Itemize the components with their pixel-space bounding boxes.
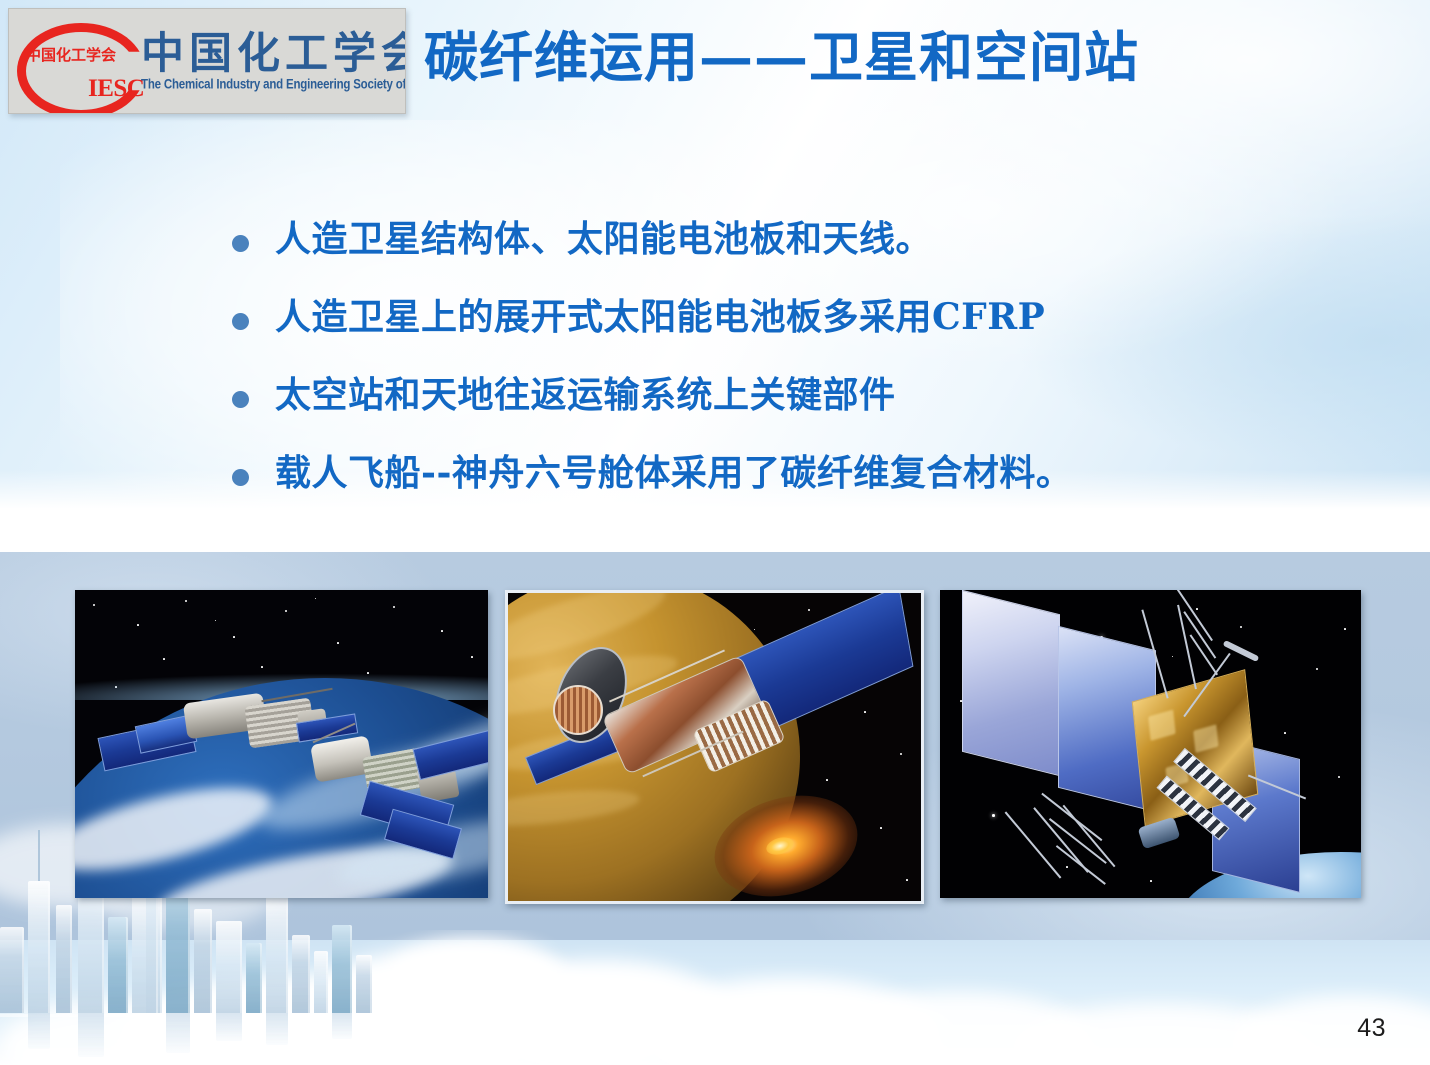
logo-wordmark: 中国化工学会 The Chemical Industry and Enginee… [137, 32, 406, 90]
list-item: 人造卫星上的展开式太阳能电池板多采用CFRP [232, 294, 1312, 340]
list-item: 载人飞船--神舟六号舱体采用了碳纤维复合材料。 [232, 450, 1312, 496]
photo-space-station-docking [75, 590, 488, 898]
bullet-text: 载人飞船--神舟六号舱体采用了碳纤维复合材料。 [275, 450, 1072, 496]
logo-abbrev-text: IESC [88, 76, 144, 101]
list-item: 人造卫星结构体、太阳能电池板和天线。 [232, 216, 1312, 262]
logo-name-en: The Chemical Industry and Engineering So… [141, 78, 406, 92]
logo-name-cn: 中国化工学会 [141, 32, 406, 77]
iesc-logo-mark: 中国化工学会 IESC [9, 14, 137, 108]
photo-navigation-satellite [940, 590, 1361, 898]
page-number: 43 [1357, 1014, 1386, 1043]
slide-title: 碳纤维运用——卫星和空间站 [424, 28, 1139, 87]
bullet-dot-icon [232, 313, 249, 330]
organization-logo: 中国化工学会 IESC 中国化工学会 The Chemical Industry… [8, 8, 406, 114]
list-item: 太空站和天地往返运输系统上关键部件 [232, 372, 1312, 418]
instrument-drum [553, 685, 603, 735]
bullet-list: 人造卫星结构体、太阳能电池板和天线。 人造卫星上的展开式太阳能电池板多采用CFR… [232, 216, 1312, 528]
logo-mark-text: 中国化工学会 [25, 48, 117, 63]
bullet-text: 太空站和天地往返运输系统上关键部件 [275, 372, 896, 418]
bullet-text: 人造卫星结构体、太阳能电池板和天线。 [275, 216, 932, 262]
bullet-text: 人造卫星上的展开式太阳能电池板多采用CFRP [275, 294, 1045, 340]
bullet-dot-icon [232, 469, 249, 486]
slide: 中国化工学会 IESC 中国化工学会 The Chemical Industry… [0, 0, 1430, 1065]
solar-panel-outer [962, 590, 1060, 776]
photo-deep-space-probe [505, 590, 924, 904]
bullet-dot-icon [232, 391, 249, 408]
bullet-dot-icon [232, 235, 249, 252]
